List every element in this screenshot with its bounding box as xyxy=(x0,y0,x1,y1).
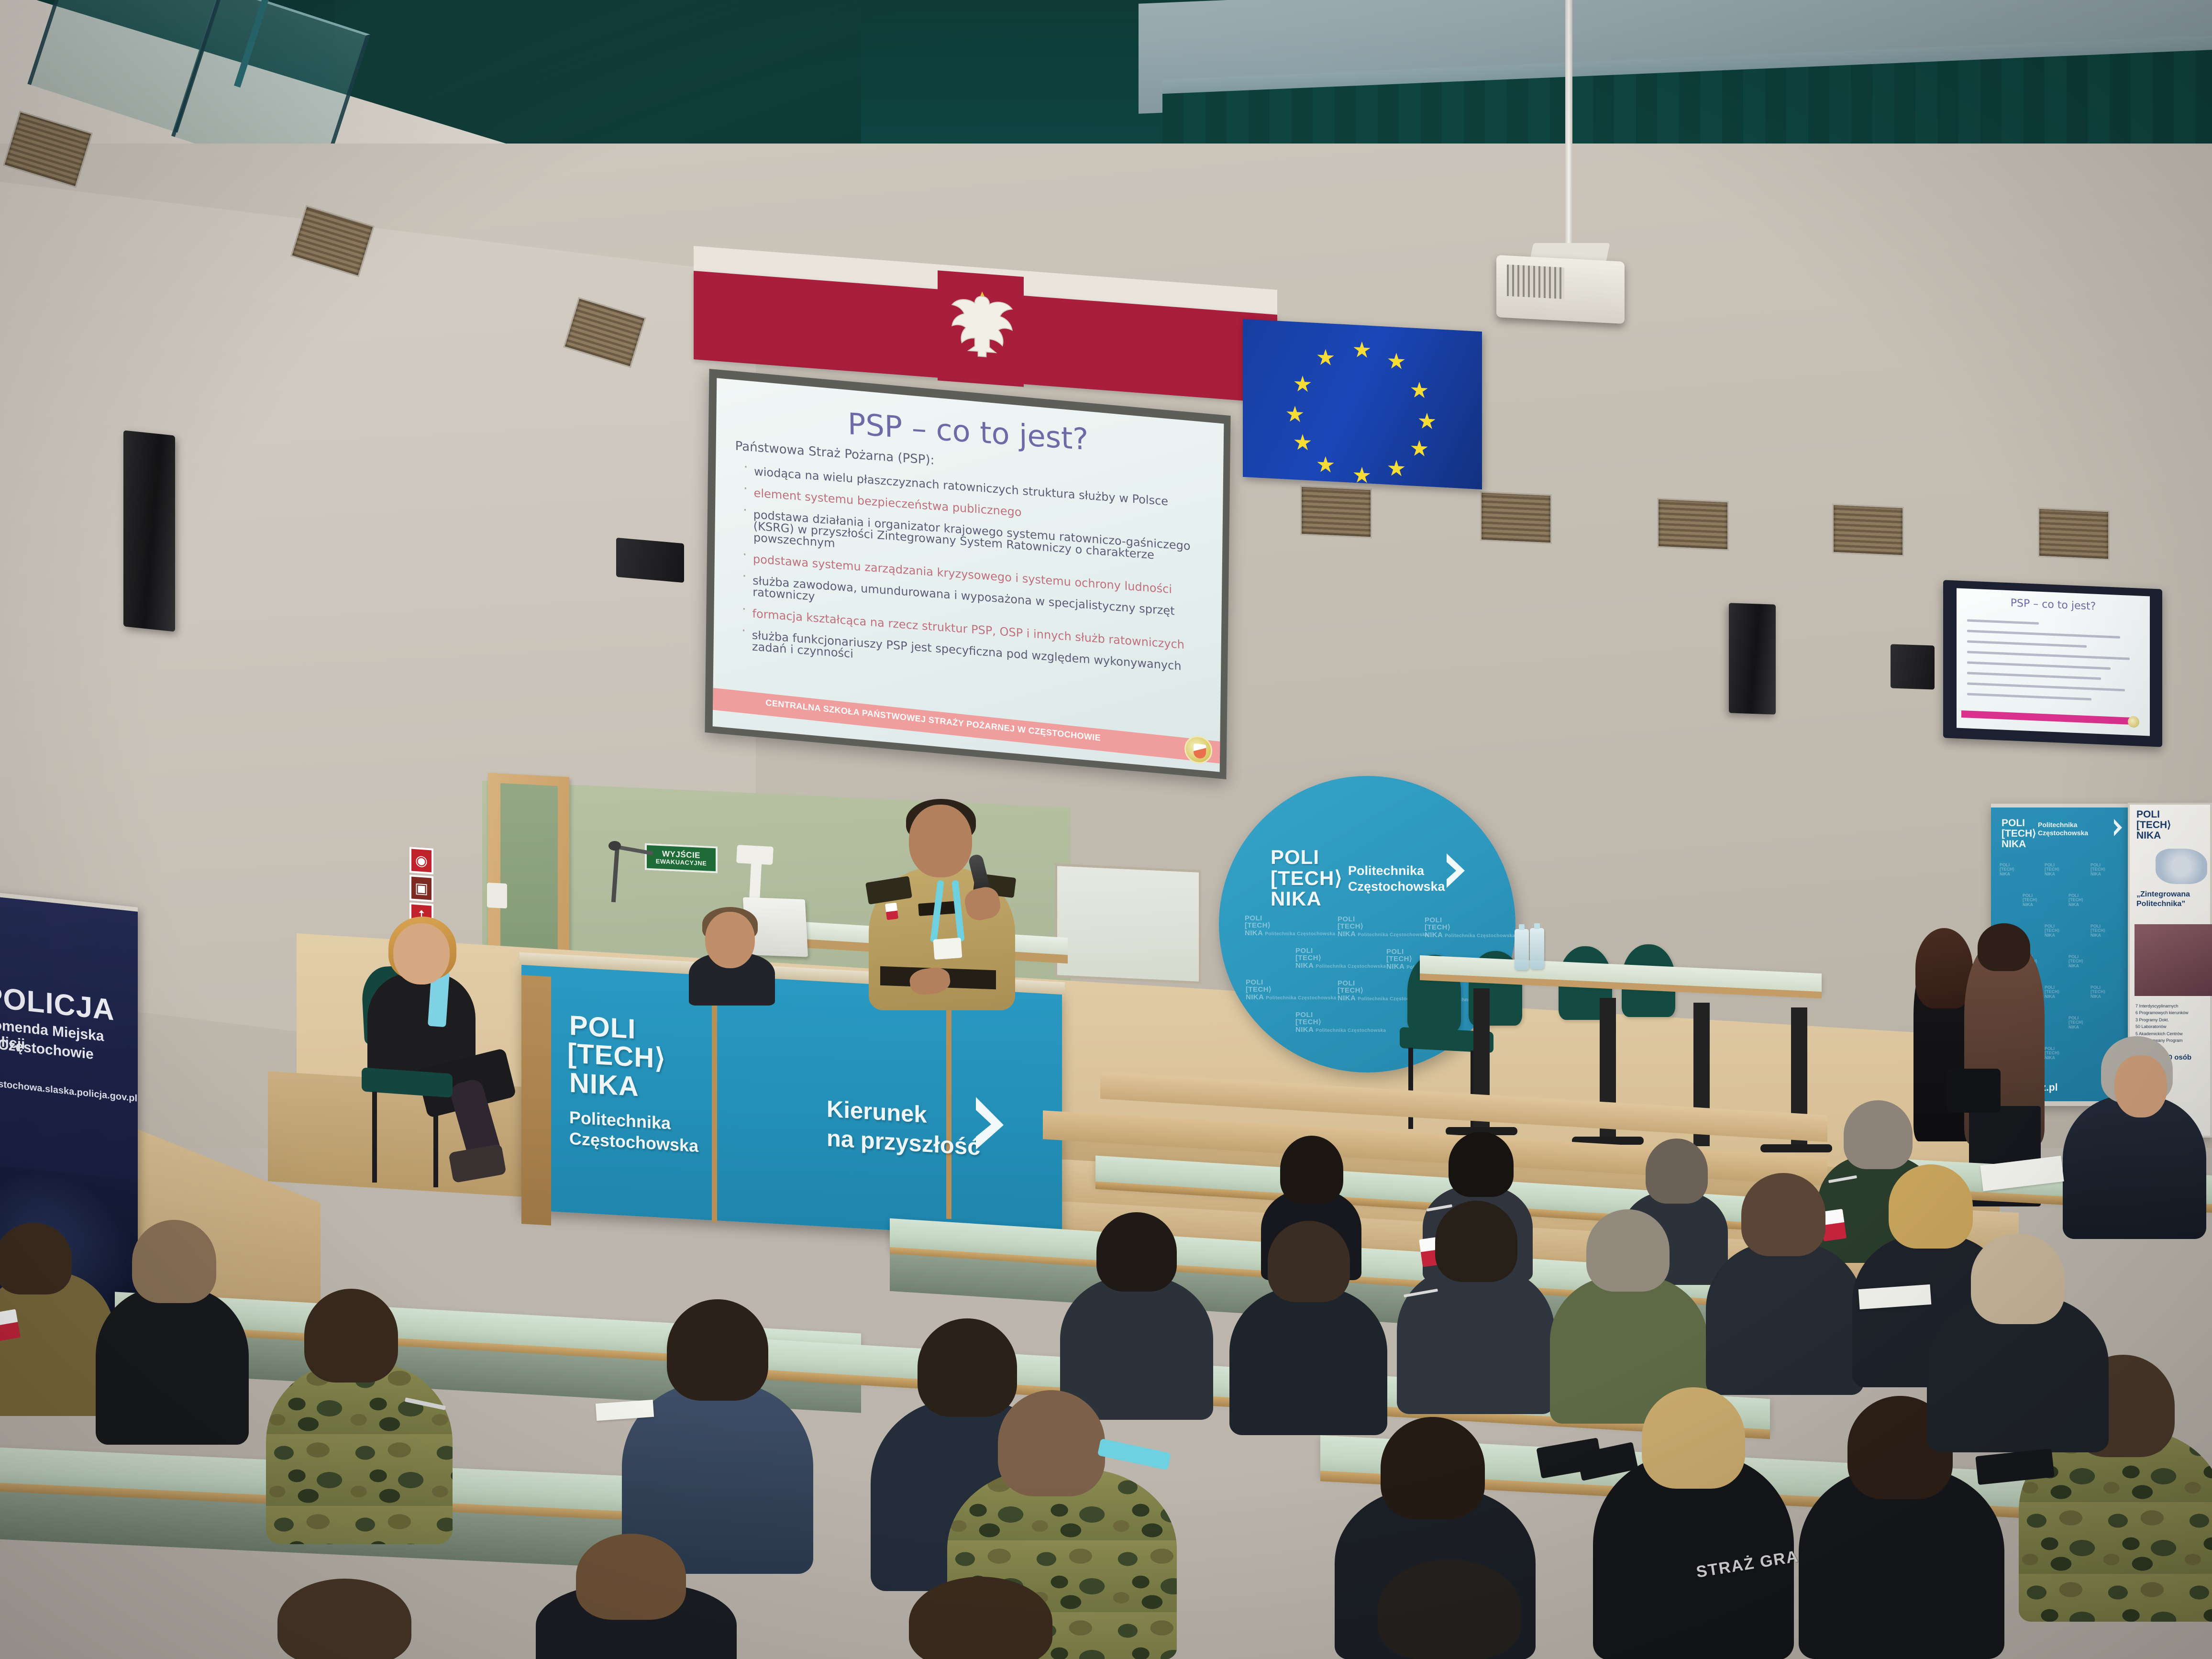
backdrop-tile: POLI[TECH⟩NIKA Politechnika Częstochowsk… xyxy=(1246,979,1336,1001)
poster-photo xyxy=(2135,924,2212,996)
banner-tile: POLI[TECH⟩NIKA xyxy=(2068,894,2083,907)
lectern-subtitle: Politechnika Częstochowska xyxy=(569,1107,698,1157)
audience-hair xyxy=(1741,1173,1825,1256)
poster-logo-line2: [TECH⟩ xyxy=(2136,820,2171,830)
audience-hair xyxy=(1378,1559,1521,1659)
banner-tile: POLI[TECH⟩NIKA xyxy=(2090,985,2105,999)
woman-head xyxy=(393,923,450,984)
police-banner-url: czestochowa.slaska.policja.gov.pl xyxy=(0,1077,137,1105)
microphone-head-icon xyxy=(608,841,621,851)
backdrop-subtitle-line1: Politechnika xyxy=(1348,863,1445,879)
audience-hair xyxy=(1586,1209,1670,1292)
monitor-footer-logo-icon xyxy=(2128,716,2139,728)
banner-tile: POLI[TECH⟩NIKA xyxy=(2000,863,2014,876)
backdrop-logo: POLI [TECH⟩ NIKA xyxy=(1271,847,1343,909)
poster-bullet: 6 Programowych kierunków xyxy=(2135,1009,2189,1016)
monitor-text-line xyxy=(1967,672,2101,680)
water-bottle xyxy=(1530,928,1544,969)
lectern-logo-line3: NIKA xyxy=(569,1069,639,1101)
backdrop-logo-line1: POLI xyxy=(1271,847,1343,868)
chevron-right-icon xyxy=(2112,818,2123,837)
monitor-text-line xyxy=(1967,651,2130,660)
emergency-exit-sign: WYJŚCIE EWAKUACYJNE xyxy=(645,843,718,874)
banner-tile: POLI[TECH⟩NIKA xyxy=(2045,924,2059,938)
audience-hair xyxy=(304,1289,398,1382)
banner-tile: POLI[TECH⟩NIKA xyxy=(2068,1016,2083,1029)
audience-hair xyxy=(1435,1201,1517,1282)
audience-hair xyxy=(667,1299,768,1401)
banner-subtitle-line1: Politechnika xyxy=(2038,821,2088,829)
fire-extinguisher-glyph: ▣ xyxy=(411,877,431,900)
chevron-right-icon xyxy=(1444,852,1468,890)
audience-hair xyxy=(1449,1132,1514,1197)
backdrop-tile: POLI[TECH⟩NIKA Politechnika Częstochowsk… xyxy=(1295,1011,1386,1033)
audience-hair xyxy=(1381,1417,1485,1519)
ventilation-grille xyxy=(1480,491,1552,544)
banner-logo: POLI [TECH⟩ NIKA xyxy=(2002,818,2036,850)
audience-hair xyxy=(1642,1387,1745,1489)
banner-tile: POLI[TECH⟩NIKA xyxy=(2045,1047,2059,1060)
standing-man-hair xyxy=(1978,923,2030,971)
poster-bullet: 3 Programy Dokt. xyxy=(2135,1017,2189,1023)
wall-speaker-right xyxy=(1729,603,1776,714)
wall-board xyxy=(1055,863,1201,984)
region-map-icon xyxy=(2156,849,2207,884)
csp-crest-logo-icon xyxy=(1184,734,1213,765)
camera-bag xyxy=(1947,1069,2001,1113)
backdrop-tile: POLI[TECH⟩NIKA Politechnika Częstochowsk… xyxy=(1338,916,1428,938)
eu-flag: ★ ★ ★ ★ ★ ★ ★ ★ ★ ★ ★ ★ xyxy=(1243,319,1482,489)
lectern-side xyxy=(521,975,551,1225)
poster-logo-line3: NIKA xyxy=(2136,830,2171,841)
audience-hair xyxy=(132,1220,216,1303)
audience-hair xyxy=(576,1534,686,1620)
speaker-head xyxy=(909,805,972,877)
banner-logo-line3: NIKA xyxy=(2002,839,2036,850)
fire-alarm-glyph: ◉ xyxy=(411,849,431,873)
white-eagle-icon xyxy=(941,275,1023,384)
poster-bullet: 5 Akademickich Centrów xyxy=(2135,1030,2189,1037)
audience-hair xyxy=(1268,1221,1350,1302)
photo-backdrop-circle: POLI [TECH⟩ NIKA Politechnika Częstochow… xyxy=(1219,776,1515,1073)
banner-tile: POLI[TECH⟩NIKA xyxy=(2045,985,2059,999)
chair-leg xyxy=(372,1092,377,1183)
audience-hair xyxy=(1844,1100,1913,1169)
projector-mount-pole xyxy=(1565,0,1572,249)
monitor-text-line xyxy=(1967,682,2125,691)
audience-face xyxy=(2114,1055,2167,1117)
monitor-text-line xyxy=(1967,619,2039,624)
audience-hair xyxy=(1096,1212,1177,1292)
ventilation-grille xyxy=(1657,498,1729,551)
audience-torso xyxy=(1706,1242,1864,1395)
poster-heading-line2: Politechnika” xyxy=(2136,899,2190,909)
backdrop-tile: POLI[TECH⟩NIKA Politechnika Częstochowsk… xyxy=(1245,915,1335,937)
fire-extinguisher-sign-icon: ▣ xyxy=(409,874,433,902)
panel-table-foot xyxy=(1760,1144,1832,1152)
chevron-right-icon xyxy=(972,1095,1007,1154)
lectern-tagline: Kierunek na przyszłość xyxy=(827,1095,980,1162)
backdrop-tile: POLI[TECH⟩NIKA Politechnika Częstochowsk… xyxy=(1425,917,1515,939)
audience-hair xyxy=(1646,1139,1708,1204)
wall-speaker-left xyxy=(123,430,175,631)
poster-heading: „Zintegrowana Politechnika” xyxy=(2136,890,2190,909)
backdrop-logo-line2: [TECH⟩ xyxy=(1271,868,1343,889)
backdrop-subtitle-line2: Częstochowska xyxy=(1348,879,1445,895)
audience-torso-camouflage xyxy=(266,1362,453,1544)
banner-tile: POLI[TECH⟩NIKA xyxy=(2068,955,2083,968)
lecture-hall-photo: ★ ★ ★ ★ ★ ★ ★ ★ ★ ★ ★ ★ PSP – co to jest… xyxy=(0,0,2212,1659)
water-bottle xyxy=(1515,929,1529,970)
monitor-arm-head xyxy=(736,845,774,865)
audience-hair xyxy=(1971,1233,2065,1324)
audience-torso xyxy=(1229,1287,1387,1435)
banner-subtitle: Politechnika Częstochowska xyxy=(2038,821,2088,837)
audience-torso xyxy=(1397,1266,1555,1414)
projector-vent xyxy=(1507,265,1564,299)
lanyard-strap xyxy=(1097,1438,1171,1470)
exit-sign-line2: EWAKUACYJNE xyxy=(656,858,707,867)
backdrop-subtitle: Politechnika Częstochowska xyxy=(1348,863,1445,895)
banner-tile: POLI[TECH⟩NIKA xyxy=(2045,863,2059,876)
polish-flag-patch-icon xyxy=(885,903,898,920)
audience-hair xyxy=(0,1223,72,1294)
monitor-slide-title: PSP – co to jest? xyxy=(1957,595,2150,615)
monitor-text-line xyxy=(1967,640,2087,647)
wall-speaker-small-left xyxy=(616,538,684,583)
wall-mounted-box xyxy=(487,883,507,908)
audience-hair xyxy=(1280,1136,1343,1204)
banner-logo-line1: POLI xyxy=(2002,818,2036,829)
poster-heading-line1: „Zintegrowana xyxy=(2136,890,2190,899)
audience-torso xyxy=(1060,1276,1213,1420)
audience-hair xyxy=(918,1318,1017,1417)
fire-alarm-sign-icon: ◉ xyxy=(409,847,433,874)
audience-hair xyxy=(277,1579,411,1659)
id-badge xyxy=(933,938,962,960)
standing-woman-hair xyxy=(1915,928,1973,1008)
monitor-footer-band xyxy=(1961,710,2134,725)
chair-leg xyxy=(433,1096,438,1187)
banner-subtitle-line2: Częstochowska xyxy=(2038,829,2088,837)
slide-bullet-list: wiodąca na wielu płaszczyznach ratownicz… xyxy=(735,460,1206,699)
poster-bullet: 7 Interdyscyplinarnych xyxy=(2135,1003,2189,1009)
poster-logo-line1: POLI xyxy=(2136,809,2171,820)
monitor-text-line xyxy=(1967,693,2091,700)
poster-logo: POLI [TECH⟩ NIKA xyxy=(2136,809,2171,841)
backdrop-tile: POLI[TECH⟩NIKA Politechnika Częstochowsk… xyxy=(1295,947,1386,969)
banner-tile: POLI[TECH⟩NIKA xyxy=(2090,863,2105,876)
banner-tile: POLI[TECH⟩NIKA xyxy=(2023,894,2037,907)
ventilation-grille xyxy=(2038,508,2110,561)
operator-head xyxy=(705,912,755,968)
wall-speaker-small-right xyxy=(1891,644,1935,689)
monitor-text-line xyxy=(1967,630,2120,638)
audience-hair xyxy=(1889,1164,1973,1249)
projection-screen: PSP – co to jest? Państwowa Straż Pożarn… xyxy=(713,378,1224,772)
audience-torso xyxy=(96,1287,249,1445)
monitor-text-line xyxy=(1967,661,2111,670)
ventilation-grille xyxy=(1300,486,1372,539)
ventilation-grille xyxy=(1832,504,1904,557)
audience-hair xyxy=(998,1390,1105,1496)
poster-bullet: 50 Laboratoriów xyxy=(2135,1023,2189,1030)
wall-monitor-screen: PSP – co to jest? xyxy=(1957,588,2150,736)
backdrop-logo-line3: NIKA xyxy=(1271,888,1343,909)
banner-logo-line2: [TECH⟩ xyxy=(2002,829,2036,839)
banner-tile: POLI[TECH⟩NIKA xyxy=(2090,924,2105,938)
